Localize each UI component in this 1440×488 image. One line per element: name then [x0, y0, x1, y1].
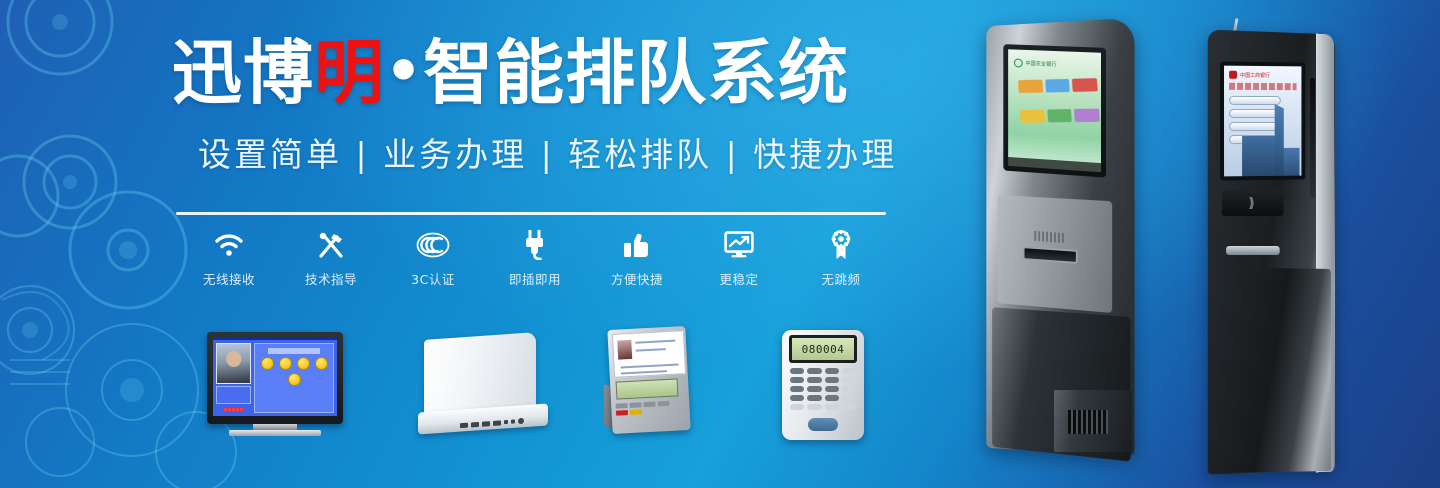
id-card-line [635, 340, 675, 344]
keypad-lcd-bezel: 080004 [789, 335, 857, 363]
keypad-button-grid[interactable] [790, 368, 856, 410]
service-icon[interactable] [1074, 108, 1100, 122]
evaluator-lcd-display [616, 378, 679, 399]
page-subtitle: 设置简单 | 业务办理 | 轻松排队 | 快捷办理 [198, 128, 902, 176]
feature-label: 3C认证 [411, 269, 455, 288]
kiosk-abc-bank-logo: 中国农业银行 [1014, 57, 1095, 71]
title-separator-dot: • [385, 37, 423, 105]
monitor-frame [207, 332, 343, 424]
feature-item-stable: 更稳定 [688, 228, 790, 288]
emoji-face [297, 357, 310, 370]
service-icon[interactable] [1072, 78, 1098, 92]
award-ribbon-icon [829, 228, 853, 261]
feature-item-plug-and-play: 即插即用 [484, 228, 586, 288]
emoji-face [288, 373, 301, 386]
keypad-lcd-value: 080004 [792, 338, 854, 360]
title-part-two: 智能排队系统 [423, 32, 849, 114]
kiosk-abc-service-icons[interactable] [1018, 78, 1101, 136]
evaluation-panel [254, 343, 334, 413]
title-accent-character: 明 [314, 32, 385, 114]
feature-item-3c-certification: 3C认证 [382, 228, 484, 288]
emoji-face [279, 357, 292, 370]
horizontal-divider [176, 212, 886, 215]
kiosk-icbc-notice-text [1229, 83, 1296, 90]
id-card-photo [617, 340, 632, 360]
kiosk-icbc-ticket-slot [1226, 246, 1280, 255]
kiosk-abc-screen[interactable]: 中国农业银行 [1008, 49, 1101, 172]
service-icon[interactable] [1020, 109, 1045, 122]
feature-item-no-frequency-hopping: 无跳频 [790, 228, 892, 288]
kiosk-bank-name: 中国农业银行 [1026, 60, 1057, 68]
promotional-banner: 迅博明•智能排队系统 设置简单 | 业务办理 | 轻松排队 | 快捷办理 无线接… [0, 0, 1440, 488]
feature-item-convenient: 方便快捷 [586, 228, 688, 288]
kiosk-icbc-screen[interactable]: 中国工商银行 [1224, 66, 1301, 177]
evaluator-keys [615, 400, 680, 425]
kiosk-abc-screen-bezel: 中国农业银行 [1003, 44, 1106, 177]
emoji-face [315, 357, 328, 370]
kiosk-abc-vent-grille [1068, 410, 1108, 434]
menu-button[interactable] [1229, 109, 1281, 118]
emoji-rating-group [257, 357, 331, 386]
kiosk-abc: 中国农业银行 [968, 22, 1168, 472]
rfid-wave-icon [1240, 197, 1266, 209]
kiosk-icbc-side-groove [1310, 78, 1315, 198]
abc-logo-mark [1014, 58, 1023, 67]
product-evaluation-monitor [207, 332, 343, 436]
evaluator-id-card [612, 330, 686, 378]
product-caller-keypad: 080004 [782, 330, 864, 440]
thumbs-up-icon [622, 228, 652, 261]
plug-icon [522, 228, 548, 261]
feature-label: 更稳定 [719, 269, 758, 288]
kiosk-bank-name: 中国工商银行 [1240, 71, 1270, 78]
feature-item-wireless: 无线接收 [178, 228, 280, 288]
building-graphic [1282, 148, 1300, 176]
staff-photo [216, 343, 251, 384]
kiosk-icbc-lower-body [1212, 267, 1331, 473]
feature-list: 无线接收 技术指导 3C认证 [178, 228, 894, 290]
tools-icon [317, 228, 345, 261]
service-icon[interactable] [1047, 109, 1072, 122]
rating-stars [216, 406, 251, 413]
monitor-screen [213, 338, 337, 416]
feature-label: 无线接收 [203, 269, 255, 288]
id-card-line [621, 363, 679, 368]
staff-name-field [216, 386, 251, 404]
title-block: 迅博明•智能排队系统 设置简单 | 业务办理 | 轻松排队 | 快捷办理 [172, 38, 902, 176]
staff-info-panel [216, 343, 251, 413]
wifi-icon [214, 228, 244, 261]
feature-label: 技术指导 [305, 269, 357, 288]
product-evaluator-terminal [604, 328, 696, 440]
keypad-enter-button[interactable] [808, 418, 838, 431]
feature-label: 无跳频 [821, 269, 860, 288]
kiosk-icbc: 中国工商银行 [1198, 18, 1363, 470]
building-graphic [1242, 136, 1280, 176]
icbc-logo-mark [1229, 71, 1237, 79]
kiosk-icbc-screen-bezel: 中国工商银行 [1220, 62, 1305, 181]
service-icon[interactable] [1018, 80, 1043, 94]
emoji-face [261, 357, 274, 370]
kiosk-icbc-card-reader[interactable] [1222, 190, 1284, 216]
service-icon[interactable] [1045, 79, 1070, 93]
monitor-chart-icon [724, 228, 754, 261]
kiosk-icbc-bank-logo: 中国工商银行 [1229, 71, 1270, 79]
title-part-one: 迅博 [172, 32, 314, 114]
feature-label: 方便快捷 [611, 269, 663, 288]
product-wireless-controller [418, 336, 548, 436]
kiosk-abc-taskbar [1008, 157, 1101, 172]
feature-label: 即插即用 [509, 269, 561, 288]
menu-button[interactable] [1229, 122, 1281, 131]
id-card-line [636, 348, 666, 352]
evaluation-question [268, 348, 320, 354]
page-title: 迅博明•智能排队系统 [172, 38, 902, 108]
monitor-base [229, 430, 321, 436]
menu-button[interactable] [1229, 96, 1281, 105]
id-card-line [621, 370, 667, 374]
ccc-certification-icon [416, 228, 450, 261]
feature-item-tech-guidance: 技术指导 [280, 228, 382, 288]
